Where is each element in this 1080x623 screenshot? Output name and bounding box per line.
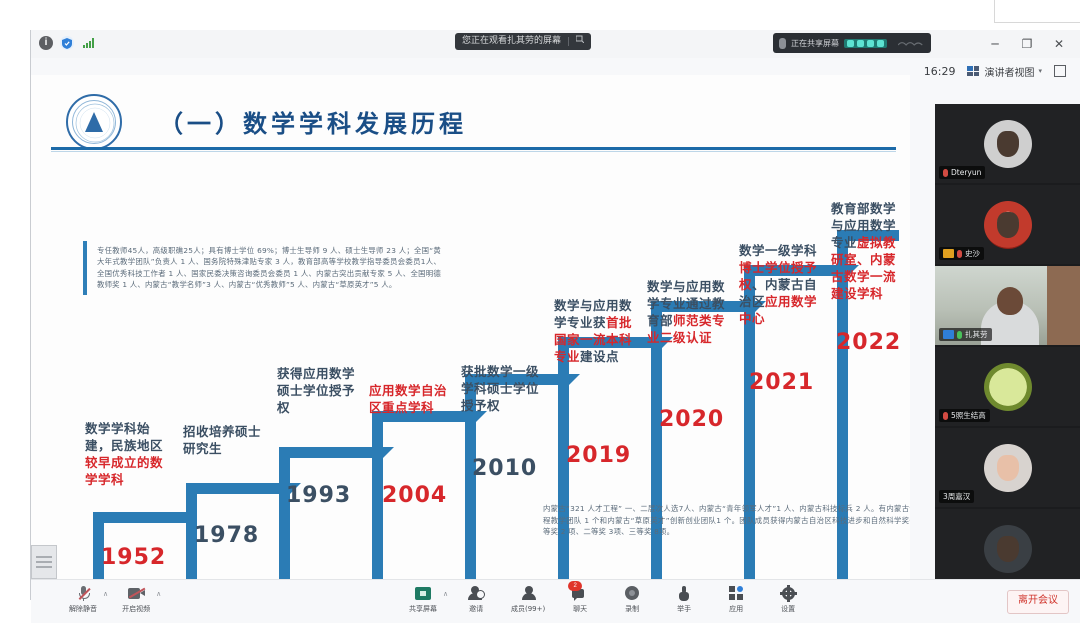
participants-label: 成员(99+): [511, 604, 545, 614]
flag-icon: [943, 330, 954, 339]
desktop-background-top: [0, 0, 1080, 30]
achievements-info-text: 内蒙古“321 人才工程” 一、二层次人选7人、内蒙古“青年领军人才”1 人、内…: [543, 503, 910, 538]
screen-sharing-banner: 您正在观看扎其劳的屏幕: [455, 33, 591, 50]
chat-button[interactable]: 2 聊天: [554, 584, 606, 614]
shared-screen-stage[interactable]: （一）数学学科发展历程 专任教师45人，高级职礁25人；具有博士学位 69%；博…: [31, 75, 910, 579]
raise-hand-button[interactable]: 举手: [658, 584, 710, 614]
step-label-1978-plain: 招收培养硕士研究生: [183, 424, 261, 456]
settings-gear-icon: [781, 584, 796, 602]
microphone-muted-icon: [78, 584, 89, 602]
participants-icon: [521, 584, 536, 602]
invite-icon: [468, 584, 485, 602]
maximize-button[interactable]: ❐: [1011, 34, 1043, 54]
mute-toggle-button[interactable]: 解除静音: [57, 584, 109, 614]
flag-icon: [943, 249, 954, 258]
subbar-controls: 16:29 演讲者视图 ▾: [924, 58, 1066, 84]
participant-tile-1[interactable]: 史沙: [935, 185, 1080, 266]
step-label-2021-plain: 数学一级学科: [739, 243, 817, 258]
participant-name-badge-2: 扎其劳: [939, 328, 992, 341]
record-label: 录制: [625, 604, 639, 614]
step-label-2010: 获批数学一级学科硕士学位授予权: [461, 363, 543, 414]
toolbar-left-group: 解除静音 ∧ 开启视频 ∧: [57, 584, 163, 620]
achievements-info-box: 内蒙古“321 人才工程” 一、二层次人选7人、内蒙古“青年领军人才”1 人、内…: [539, 499, 910, 542]
participant-name-badge-0: Dteryun: [939, 166, 985, 179]
floating-meeting-controls[interactable]: 正在共享屏幕: [773, 33, 931, 53]
participant-name-badge-1: 史沙: [939, 247, 984, 260]
share-screen-label: 共享屏幕: [409, 604, 437, 614]
step-label-1978: 招收培养硕士研究生: [183, 423, 263, 457]
desktop-corner-panel: [994, 0, 1080, 23]
step-label-1952-highlight: 较早成立的数学学科: [85, 455, 163, 487]
step-year-2019: 2019: [566, 443, 631, 468]
sharing-status-label: 正在共享屏幕: [791, 38, 839, 49]
view-mode-label: 演讲者视图: [984, 64, 1034, 79]
step-year-2020: 2020: [659, 407, 724, 432]
step-year-2004: 2004: [382, 483, 447, 508]
meeting-toolbar: 解除静音 ∧ 开启视频 ∧ 共享屏幕 ∧: [31, 579, 1080, 623]
participant-tile-2[interactable]: 扎其劳: [935, 266, 1080, 347]
settings-label: 设置: [781, 604, 795, 614]
step-label-1952-plain: 数学学科始建，民族地区: [85, 421, 163, 453]
slide-canvas: （一）数学学科发展历程 专任教师45人，高级职礁25人；具有博士学位 69%；博…: [31, 75, 910, 579]
record-button[interactable]: 录制: [606, 584, 658, 614]
chat-unread-badge: 2: [568, 581, 582, 591]
watching-text: 您正在观看扎其劳的屏幕: [462, 33, 561, 50]
shield-icon[interactable]: [60, 36, 74, 50]
share-screen-icon: [415, 584, 431, 602]
step-label-1952: 数学学科始建，民族地区较早成立的数学学科: [85, 420, 167, 488]
step-label-2020: 数学与应用数学专业通过教育部师范类专业二级认证: [647, 278, 729, 346]
avatar: [984, 120, 1032, 168]
leave-meeting-button[interactable]: 离开会议: [1007, 590, 1069, 614]
apps-button[interactable]: 应用: [710, 584, 762, 614]
chevron-down-icon: ▾: [1038, 67, 1042, 75]
clock: 16:29: [924, 65, 956, 78]
microphone-icon[interactable]: [779, 38, 786, 49]
step-year-1952: 1952: [101, 545, 166, 570]
step-label-2021: 数学一级学科博士学位授予权、内蒙古自治区应用数学中心: [739, 242, 821, 327]
avatar: [984, 525, 1032, 573]
step-label-1993: 获得应用数学硕士学位授予权: [277, 365, 359, 416]
banner-divider: [568, 37, 569, 46]
settings-button[interactable]: 设置: [762, 584, 814, 614]
participant-name-3: 5照生结高: [951, 410, 986, 421]
signal-strength-icon: [81, 36, 95, 50]
participant-tile-5[interactable]: [935, 509, 1080, 579]
microphone-muted-icon: [943, 169, 948, 177]
apps-label: 应用: [729, 604, 743, 614]
meeting-app-window: i ─ ❐ ✕ 16:29 演讲者视图 ▾: [30, 30, 1080, 600]
desktop-background-left: [0, 0, 30, 600]
microphone-muted-icon: [943, 412, 948, 420]
participant-name-1: 史沙: [965, 248, 980, 259]
video-toggle-label: 开启视频: [122, 604, 150, 614]
video-toggle-button[interactable]: 开启视频: [110, 584, 162, 614]
audio-options-caret[interactable]: ∧: [103, 590, 108, 598]
share-options-caret[interactable]: ∧: [443, 590, 448, 598]
share-screen-button[interactable]: 共享屏幕: [397, 584, 449, 614]
step-label-1993-plain: 获得应用数学硕士学位授予权: [277, 366, 355, 415]
fullscreen-icon[interactable]: [1054, 65, 1066, 77]
apps-icon: [729, 584, 743, 602]
chat-label: 聊天: [573, 604, 587, 614]
close-button[interactable]: ✕: [1043, 34, 1075, 54]
step-year-2022: 2022: [836, 330, 901, 355]
microphone-muted-icon: [957, 250, 962, 258]
raise-hand-icon: [678, 584, 690, 602]
stop-view-icon[interactable]: [576, 33, 584, 50]
participant-name-2: 扎其劳: [965, 329, 988, 340]
participant-name-4: 3周嘉汉: [943, 491, 970, 502]
step-year-1993: 1993: [286, 483, 351, 508]
meeting-controls-icon[interactable]: [844, 39, 887, 48]
invite-label: 邀请: [469, 604, 483, 614]
avatar: [984, 444, 1032, 492]
record-icon: [625, 584, 639, 602]
screen-root: i ─ ❐ ✕ 16:29 演讲者视图 ▾: [0, 0, 1080, 600]
raise-hand-label: 举手: [677, 604, 691, 614]
step-year-2021: 2021: [749, 370, 814, 395]
avatar: [984, 201, 1032, 249]
titlebar-status-icons: i: [39, 36, 95, 50]
step-label-2019-tail: 建设点: [580, 349, 619, 364]
toolbar-center-group: 共享屏幕 ∧ 邀请 成员(99+) 2 聊天: [397, 584, 814, 620]
participant-name-badge-3: 5照生结高: [939, 409, 990, 422]
participant-name-0: Dteryun: [951, 168, 981, 177]
video-options-caret[interactable]: ∧: [156, 590, 161, 598]
slide-thumbnail-handle[interactable]: [31, 545, 57, 579]
camera-off-icon: [128, 584, 145, 602]
step-year-2010: 2010: [472, 456, 537, 481]
presentation-slide: （一）数学学科发展历程 专任教师45人，高级职礁25人；具有博士学位 69%；博…: [31, 75, 910, 579]
step-year-1978: 1978: [194, 523, 259, 548]
chat-icon: 2: [572, 584, 588, 602]
mute-toggle-label: 解除静音: [69, 604, 97, 614]
participant-name-badge-4: 3周嘉汉: [939, 490, 974, 503]
participants-button[interactable]: 成员(99+): [502, 584, 554, 614]
participant-tile-4[interactable]: 3周嘉汉: [935, 428, 1080, 509]
step-label-2004-highlight: 应用数学自治区重点学科: [369, 383, 447, 415]
participant-tile-3[interactable]: 5照生结高: [935, 347, 1080, 428]
invite-button[interactable]: 邀请: [450, 584, 502, 614]
minimize-button[interactable]: ─: [979, 34, 1011, 54]
view-mode-selector[interactable]: 演讲者视图 ▾: [967, 64, 1042, 79]
window-controls: ─ ❐ ✕: [979, 34, 1075, 54]
audio-waveform-icon: [898, 38, 925, 48]
participant-strip[interactable]: Dteryun 史沙: [935, 104, 1080, 579]
info-icon[interactable]: i: [39, 36, 53, 50]
step-label-2010-plain: 获批数学一级学科硕士学位授予权: [461, 364, 539, 413]
avatar: [984, 363, 1032, 411]
microphone-active-icon: [957, 331, 962, 339]
participant-tile-0[interactable]: Dteryun: [935, 104, 1080, 185]
step-label-2019: 数学与应用数学专业获首批国家一流本科专业建设点: [554, 297, 636, 365]
step-label-2022: 教育部数学与应用数学专业虚拟教研室、内蒙古数学一流建设学科: [831, 200, 907, 302]
layout-grid-icon: [967, 66, 980, 77]
step-label-2004: 应用数学自治区重点学科: [369, 382, 451, 416]
